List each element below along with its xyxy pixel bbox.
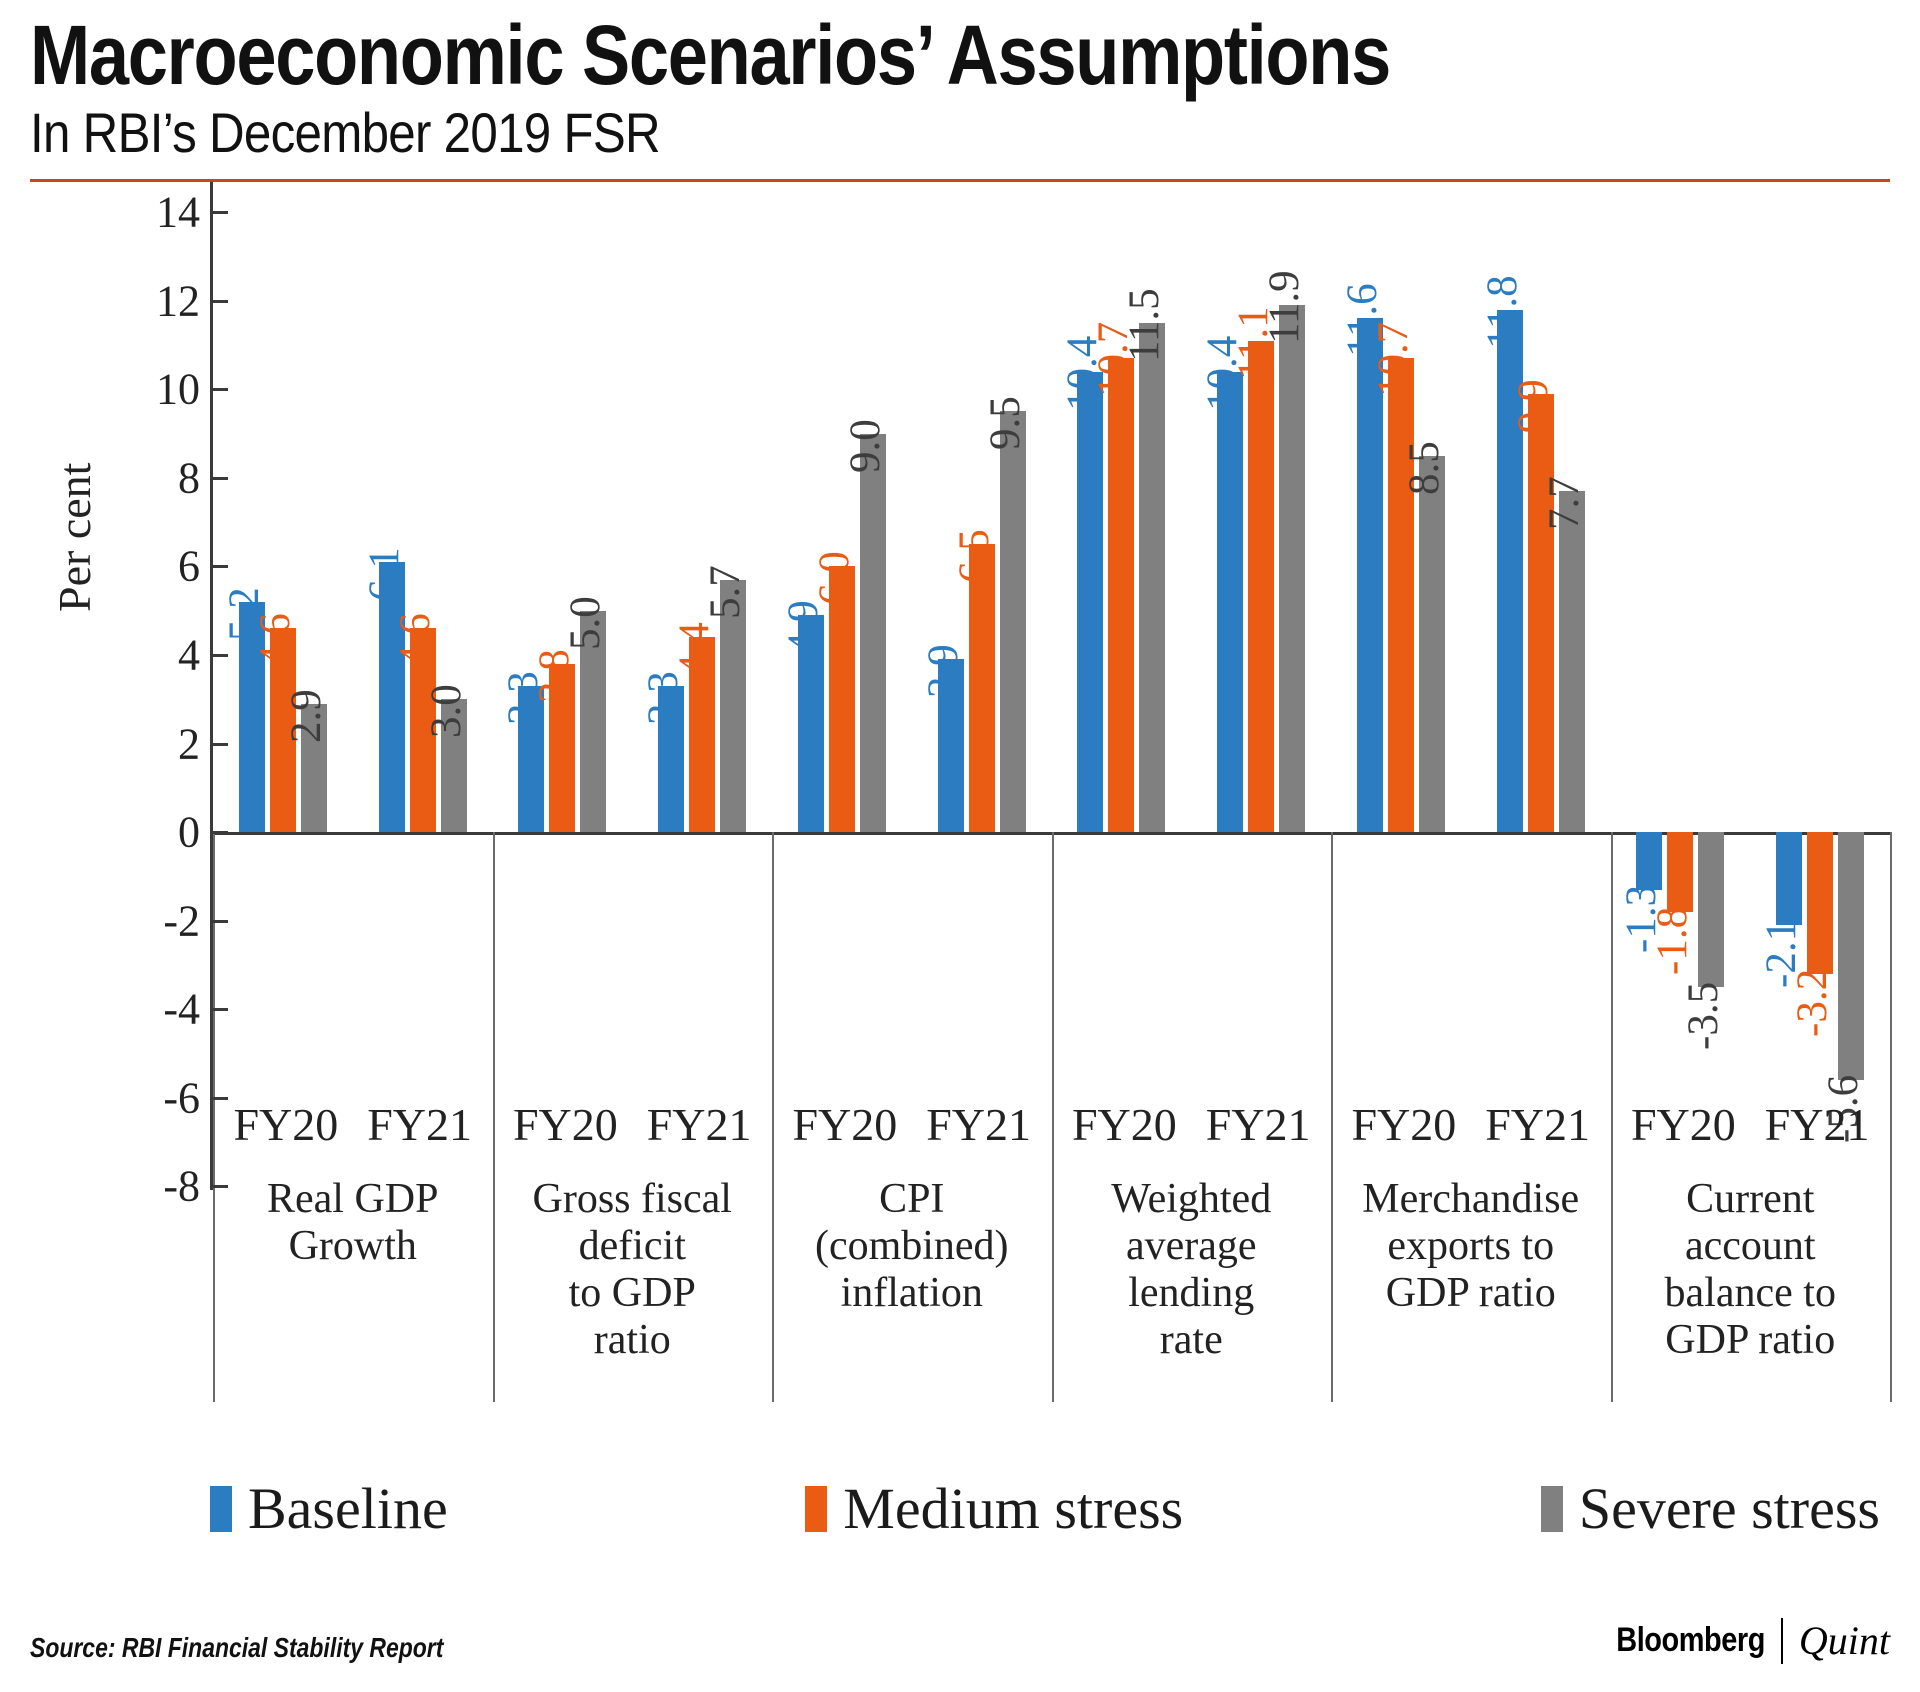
- bar: [379, 562, 405, 832]
- bar-value-label: 6.0: [810, 552, 859, 606]
- bar-value-label: 9.0: [841, 419, 890, 473]
- category-label-line: Merchandise: [1335, 1176, 1607, 1223]
- bar-value-label: 10.7: [1369, 322, 1418, 397]
- bar-value-label: 4.6: [251, 614, 300, 668]
- chart-header: Macroeconomic Scenarios’ Assumptions In …: [0, 0, 1920, 163]
- page-title: Macroeconomic Scenarios’ Assumptions: [30, 14, 1630, 96]
- y-axis-tick-mark: [210, 1185, 228, 1188]
- category-label: Currentaccountbalance toGDP ratio: [1611, 1176, 1891, 1364]
- category-label-line: lending: [1056, 1270, 1328, 1317]
- fiscal-year-label: FY21: [1206, 1102, 1311, 1148]
- category-label-line: Weighted: [1056, 1176, 1328, 1223]
- y-axis-tick-mark: [210, 211, 228, 214]
- legend-swatch-icon: [210, 1486, 232, 1532]
- category-block: FY20FY21Gross fiscaldeficitto GDPratio: [493, 1102, 773, 1364]
- group-separator-upper: [1052, 832, 1054, 1102]
- y-axis-title: Per cent: [48, 463, 101, 612]
- y-axis-tick-label: 14: [156, 187, 200, 238]
- legend-swatch-icon: [805, 1486, 827, 1532]
- y-axis-tick-mark: [210, 388, 228, 391]
- y-axis-tick-label: -2: [163, 895, 200, 946]
- page-subtitle: In RBI’s December 2019 FSR: [30, 104, 1667, 163]
- bar-value-label: 11.9: [1260, 270, 1309, 344]
- y-axis-tick-label: 10: [156, 364, 200, 415]
- legend-item[interactable]: Severe stress: [1541, 1480, 1880, 1538]
- bar-group: 4.96.09.03.96.59.5: [772, 182, 1052, 1102]
- chart-plot-area: Per cent 14121086420-2-4-6-8 5.24.62.96.…: [30, 182, 1890, 1412]
- chart-legend: BaselineMedium stressSevere stress: [210, 1480, 1880, 1538]
- y-axis-tick-mark: [210, 1097, 228, 1100]
- bar: [1077, 372, 1103, 833]
- group-separator-upper: [1331, 832, 1333, 1102]
- category-label-line: Gross fiscal: [497, 1176, 769, 1223]
- fiscal-year-label: FY20: [233, 1102, 338, 1148]
- brand-divider: [1781, 1618, 1783, 1664]
- bar: [1807, 832, 1833, 974]
- bar-value-label: 4.9: [779, 600, 828, 654]
- fiscal-year-label: FY20: [1631, 1102, 1736, 1148]
- category-label: Gross fiscaldeficitto GDPratio: [493, 1176, 773, 1364]
- category-label-line: CPI: [776, 1176, 1048, 1223]
- category-label-line: ratio: [497, 1317, 769, 1364]
- legend-item[interactable]: Medium stress: [805, 1480, 1183, 1538]
- bar-value-label: 8.5: [1400, 441, 1449, 495]
- category-label-line: Real GDP: [217, 1176, 489, 1223]
- category-label: CPI(combined)inflation: [772, 1176, 1052, 1317]
- bar: [1838, 832, 1864, 1080]
- category-label: Real GDPGrowth: [213, 1176, 493, 1270]
- category-label-line: GDP ratio: [1335, 1270, 1607, 1317]
- bar: [969, 544, 995, 832]
- bar-value-label: 3.0: [422, 685, 471, 739]
- category-block: FY20FY21Currentaccountbalance toGDP rati…: [1611, 1102, 1891, 1364]
- bar: [1667, 832, 1693, 912]
- y-axis-tick-mark: [210, 565, 228, 568]
- bar-value-label: -1.8: [1648, 907, 1697, 975]
- legend-item[interactable]: Baseline: [210, 1480, 448, 1538]
- fiscal-year-label: FY20: [1072, 1102, 1177, 1148]
- fiscal-year-label: FY21: [1765, 1102, 1870, 1148]
- y-axis-tick-mark: [210, 831, 228, 834]
- category-label: Merchandiseexports toGDP ratio: [1331, 1176, 1611, 1317]
- category-block: FY20FY21Real GDPGrowth: [213, 1102, 493, 1270]
- source-note: Source: RBI Financial Stability Report: [30, 1632, 443, 1664]
- y-axis-tick-label: 0: [178, 807, 200, 858]
- group-separator-upper: [493, 832, 495, 1102]
- category-label-line: to GDP: [497, 1270, 769, 1317]
- bar-value-label: 7.7: [1540, 476, 1589, 530]
- fiscal-year-row: FY20FY21: [1331, 1102, 1611, 1148]
- group-separator-upper: [213, 832, 215, 1102]
- y-axis-tick-mark: [210, 477, 228, 480]
- fiscal-year-row: FY20FY21: [493, 1102, 773, 1148]
- y-axis-tick-label: 6: [178, 541, 200, 592]
- bar: [1139, 323, 1165, 832]
- bar: [1000, 411, 1026, 832]
- y-axis-tick-label: -6: [163, 1072, 200, 1123]
- bar-group: 3.33.85.03.34.45.7: [493, 182, 773, 1102]
- fiscal-year-label: FY20: [1351, 1102, 1456, 1148]
- bar-value-label: 5.7: [701, 565, 750, 619]
- y-axis-tick-label: 4: [178, 629, 200, 680]
- category-label-line: Current: [1615, 1176, 1887, 1223]
- bar-group: 10.410.711.510.411.111.9: [1052, 182, 1332, 1102]
- legend-label: Severe stress: [1579, 1480, 1880, 1538]
- category-label-line: average: [1056, 1223, 1328, 1270]
- fiscal-year-row: FY20FY21: [1611, 1102, 1891, 1148]
- y-axis-tick-mark: [210, 300, 228, 303]
- y-axis-tick-mark: [210, 1008, 228, 1011]
- category-label-line: deficit: [497, 1223, 769, 1270]
- bar-value-label: 9.9: [1509, 379, 1558, 433]
- y-axis-tick-label: -8: [163, 1161, 200, 1212]
- bar-value-label: -3.2: [1788, 969, 1837, 1037]
- bar: [860, 434, 886, 833]
- fiscal-year-row: FY20FY21: [213, 1102, 493, 1148]
- bar-value-label: 5.0: [561, 596, 610, 650]
- legend-label: Baseline: [248, 1480, 448, 1538]
- brand-logo: Bloomberg Quint: [1590, 1617, 1890, 1664]
- bar-value-label: -3.5: [1679, 982, 1728, 1050]
- category-label-line: Growth: [217, 1223, 489, 1270]
- fiscal-year-label: FY21: [367, 1102, 472, 1148]
- category-label-line: inflation: [776, 1270, 1048, 1317]
- bar-group: -1.3-1.8-3.5-2.1-3.2-5.6: [1611, 182, 1891, 1102]
- y-axis-tick-label: 2: [178, 718, 200, 769]
- fiscal-year-label: FY21: [926, 1102, 1031, 1148]
- category-label-line: exports to: [1335, 1223, 1607, 1270]
- group-separator-upper: [772, 832, 774, 1102]
- category-label-line: balance to: [1615, 1270, 1887, 1317]
- bar-value-label: 9.5: [981, 397, 1030, 451]
- legend-swatch-icon: [1541, 1486, 1563, 1532]
- y-axis-tick-label: -4: [163, 984, 200, 1035]
- y-axis-tick-label: 8: [178, 452, 200, 503]
- fiscal-year-label: FY20: [792, 1102, 897, 1148]
- bar-group: 11.610.78.511.89.97.7: [1331, 182, 1611, 1102]
- category-block: FY20FY21Merchandiseexports toGDP ratio: [1331, 1102, 1611, 1317]
- bar-value-label: 4.6: [391, 614, 440, 668]
- bar-value-label: 2.9: [282, 689, 331, 743]
- bar-value-label: 3.8: [530, 649, 579, 703]
- bar: [1388, 358, 1414, 832]
- bar: [1248, 341, 1274, 833]
- bar: [1776, 832, 1802, 925]
- category-axis: FY20FY21Real GDPGrowthFY20FY21Gross fisc…: [213, 1102, 1890, 1412]
- category-block: FY20FY21CPI(combined)inflation: [772, 1102, 1052, 1317]
- category-block: FY20FY21Weightedaveragelendingrate: [1052, 1102, 1332, 1364]
- fiscal-year-row: FY20FY21: [1052, 1102, 1332, 1148]
- fiscal-year-label: FY20: [513, 1102, 618, 1148]
- category-label-line: account: [1615, 1223, 1887, 1270]
- fiscal-year-row: FY20FY21: [772, 1102, 1052, 1148]
- brand-quint-text: Quint: [1799, 1617, 1890, 1664]
- group-separator: [1890, 1102, 1892, 1402]
- y-axis-tick-mark: [210, 920, 228, 923]
- category-label-line: rate: [1056, 1317, 1328, 1364]
- bars-area: 5.24.62.96.14.63.03.33.85.03.34.45.74.96…: [213, 182, 1890, 1102]
- bar-value-label: 6.5: [950, 530, 999, 584]
- group-separator-upper: [1890, 832, 1892, 1102]
- bar: [1419, 456, 1445, 832]
- fiscal-year-label: FY21: [1485, 1102, 1590, 1148]
- bar-value-label: 3.3: [639, 671, 688, 725]
- y-axis-tick-labels: 14121086420-2-4-6-8: [110, 182, 200, 1226]
- y-axis-tick-mark: [210, 654, 228, 657]
- category-label: Weightedaveragelendingrate: [1052, 1176, 1332, 1364]
- fiscal-year-label: FY21: [647, 1102, 752, 1148]
- bar-value-label: 4.4: [670, 623, 719, 677]
- bar: [1279, 305, 1305, 832]
- y-axis-tick-label: 12: [156, 275, 200, 326]
- chart-footer: Source: RBI Financial Stability Report B…: [30, 1617, 1890, 1664]
- bar-value-label: 11.5: [1120, 288, 1169, 362]
- bar: [1217, 372, 1243, 833]
- category-label-line: GDP ratio: [1615, 1317, 1887, 1364]
- bar: [1108, 358, 1134, 832]
- bar: [1698, 832, 1724, 987]
- legend-label: Medium stress: [843, 1480, 1183, 1538]
- bar: [829, 566, 855, 832]
- group-separator-upper: [1611, 832, 1613, 1102]
- bar-value-label: 6.1: [360, 547, 409, 601]
- bar-value-label: 11.8: [1478, 275, 1527, 349]
- y-axis-tick-mark: [210, 743, 228, 746]
- bar: [1559, 491, 1585, 832]
- category-label-line: (combined): [776, 1223, 1048, 1270]
- bar-value-label: 3.9: [919, 645, 968, 699]
- bar: [1636, 832, 1662, 890]
- bar: [1528, 394, 1554, 832]
- bar-group: 5.24.62.96.14.63.0: [213, 182, 493, 1102]
- brand-bloomberg-text: Bloomberg: [1616, 1621, 1765, 1660]
